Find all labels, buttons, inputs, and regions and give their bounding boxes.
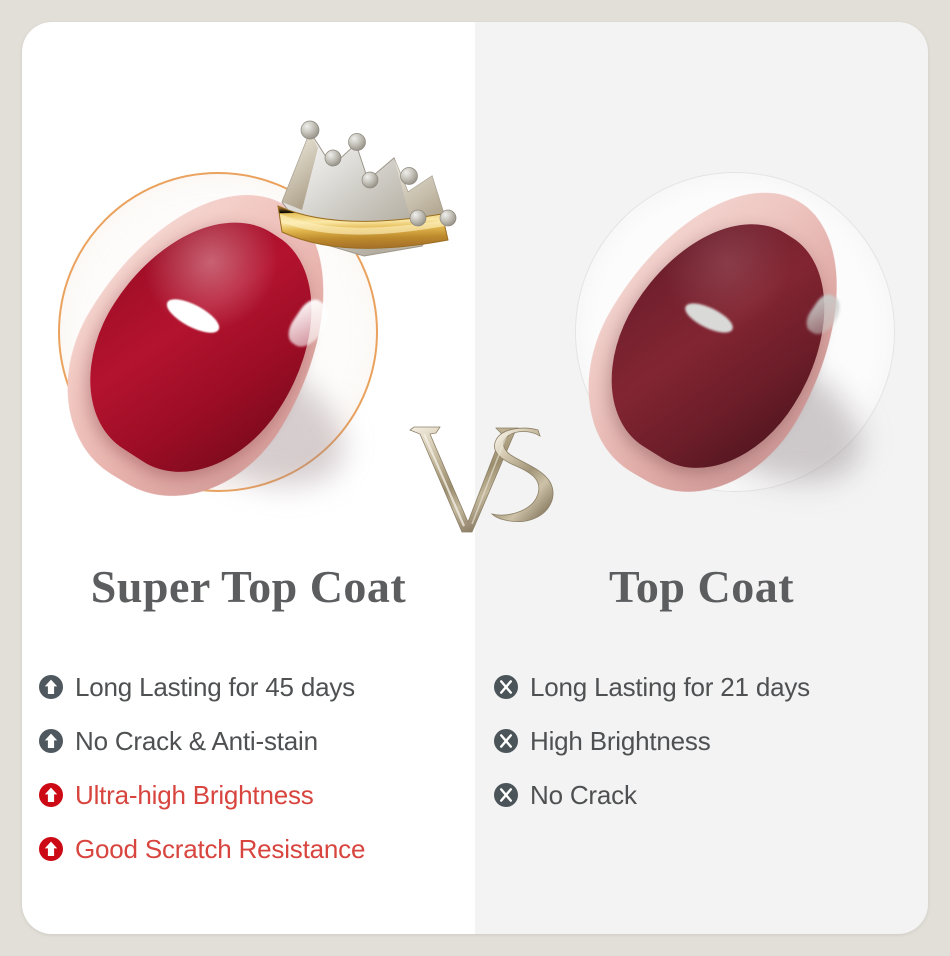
comparison-card: Super Top Coat Long Lasting for 45 days bbox=[22, 22, 928, 934]
feature-list-right: Long Lasting for 21 days High Brightness bbox=[475, 660, 928, 822]
page-title-right: Top Coat bbox=[475, 560, 928, 613]
list-item: Long Lasting for 21 days bbox=[493, 660, 914, 714]
list-item-label: Long Lasting for 45 days bbox=[75, 672, 355, 703]
list-item: No Crack & Anti-stain bbox=[38, 714, 461, 768]
x-circle-icon bbox=[493, 782, 519, 808]
up-arrow-circle-icon bbox=[38, 674, 64, 700]
page-title-left: Super Top Coat bbox=[22, 560, 475, 613]
panel-super-top-coat: Super Top Coat Long Lasting for 45 days bbox=[22, 22, 475, 934]
list-item: Long Lasting for 45 days bbox=[38, 660, 461, 714]
list-item: Good Scratch Resistance bbox=[38, 822, 461, 876]
comparison-graphic: Super Top Coat Long Lasting for 45 days bbox=[0, 0, 950, 956]
list-item-label: High Brightness bbox=[530, 726, 711, 757]
list-item-label: Long Lasting for 21 days bbox=[530, 672, 810, 703]
list-item-label: No Crack & Anti-stain bbox=[75, 726, 318, 757]
panel-top-coat: Top Coat Long Lasting for 21 days bbox=[475, 22, 928, 934]
up-arrow-circle-icon bbox=[38, 782, 64, 808]
up-arrow-circle-icon bbox=[38, 836, 64, 862]
list-item-label: No Crack bbox=[530, 780, 637, 811]
feature-list-left: Long Lasting for 45 days No Crack & Anti… bbox=[22, 660, 475, 876]
list-item-label: Good Scratch Resistance bbox=[75, 834, 365, 865]
crown-icon bbox=[272, 114, 468, 274]
list-item-label: Ultra-high Brightness bbox=[75, 780, 314, 811]
up-arrow-circle-icon bbox=[38, 728, 64, 754]
list-item: Ultra-high Brightness bbox=[38, 768, 461, 822]
list-item: High Brightness bbox=[493, 714, 914, 768]
list-item: No Crack bbox=[493, 768, 914, 822]
x-circle-icon bbox=[493, 674, 519, 700]
x-circle-icon bbox=[493, 728, 519, 754]
